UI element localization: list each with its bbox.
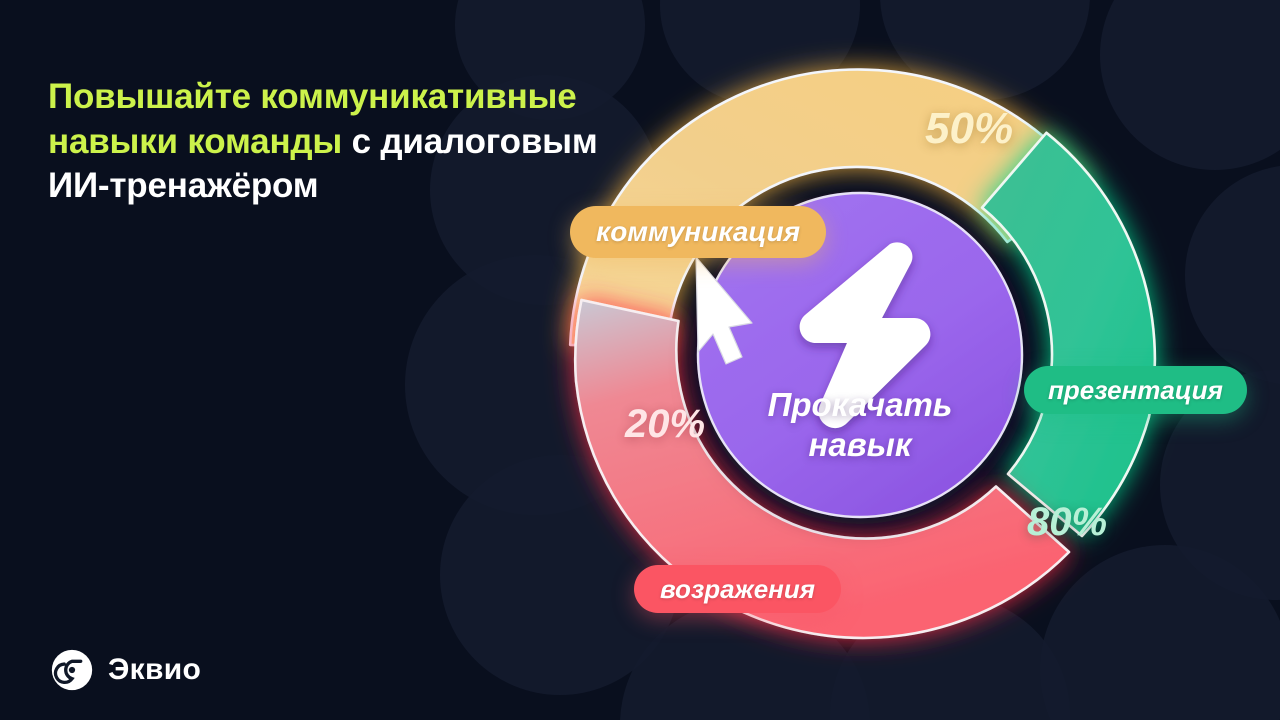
- segment-label-objections[interactable]: возражения: [634, 565, 841, 613]
- donut-svg: [510, 0, 1280, 720]
- segment-value-communication: 50%: [925, 104, 1013, 154]
- poster-canvas: Повышайте коммуникативные навыки команды…: [0, 0, 1280, 720]
- segment-value-presentation: 80%: [1027, 500, 1107, 545]
- eqvio-swirl-icon: [50, 648, 94, 692]
- page-title: Повышайте коммуникативные навыки команды…: [48, 75, 608, 207]
- segment-label-communication[interactable]: коммуникация: [570, 206, 826, 258]
- segment-label-presentation[interactable]: презентация: [1024, 366, 1247, 414]
- brand-logo[interactable]: Эквио: [50, 648, 201, 692]
- segment-value-objections: 20%: [625, 402, 705, 447]
- center-label-line1: Прокачать: [725, 385, 995, 425]
- center-label: Прокачать навык: [725, 385, 995, 466]
- skill-donut-diagram: 50% 80% 20% Прокачать навык: [510, 0, 1280, 720]
- center-label-line2: навык: [725, 425, 995, 465]
- brand-name: Эквио: [108, 653, 201, 687]
